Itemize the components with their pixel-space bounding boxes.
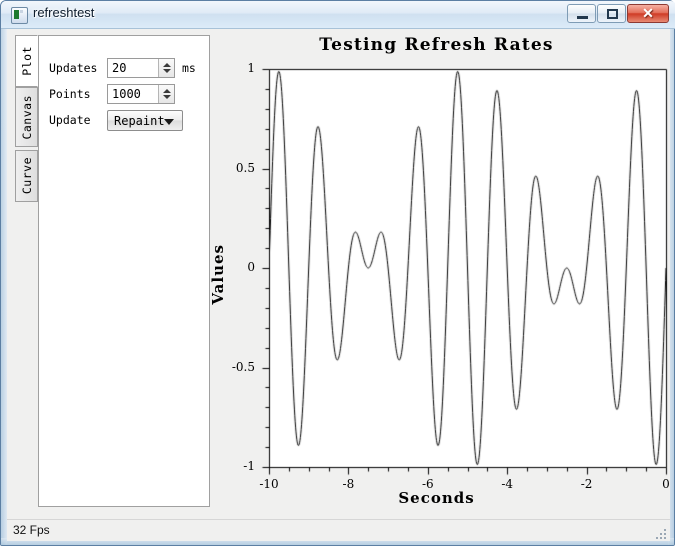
x-tick-label: -10 xyxy=(249,477,289,491)
y-tick-label: -1 xyxy=(215,459,255,473)
update-mode-label: Update xyxy=(49,113,91,127)
resize-grip[interactable] xyxy=(653,526,666,539)
maximize-button[interactable] xyxy=(597,4,626,23)
close-button[interactable]: ✕ xyxy=(627,4,669,23)
app-icon xyxy=(11,7,28,24)
y-tick-label: 0 xyxy=(215,260,255,274)
tab-curve[interactable]: Curve xyxy=(15,150,38,202)
updates-row: Updates 20 ms xyxy=(49,58,204,80)
updates-label: Updates xyxy=(49,61,97,75)
status-bar: 32 Fps xyxy=(7,519,670,541)
updates-unit: ms xyxy=(182,61,196,75)
y-tick-label: -0.5 xyxy=(215,360,255,374)
update-mode-value: Repaint xyxy=(114,114,165,128)
points-row: Points 1000 xyxy=(49,84,204,106)
x-tick-label: -4 xyxy=(487,477,527,491)
points-step-up-icon[interactable] xyxy=(163,89,171,93)
settings-panel: Updates 20 ms Points 1000 xyxy=(38,35,210,507)
chevron-down-icon[interactable] xyxy=(164,119,174,125)
minimize-button[interactable] xyxy=(567,4,596,23)
update-mode-select[interactable]: Repaint xyxy=(107,110,183,131)
tab-canvas[interactable]: Canvas xyxy=(15,87,38,147)
updates-step-down-icon[interactable] xyxy=(163,69,171,73)
tab-curve-label: Curve xyxy=(20,157,34,194)
x-tick-label: 0 xyxy=(646,477,675,491)
points-value: 1000 xyxy=(112,87,141,101)
x-tick-label: -2 xyxy=(567,477,607,491)
fps-status: 32 Fps xyxy=(13,523,50,537)
plot-canvas[interactable] xyxy=(203,29,670,520)
x-tick-label: -6 xyxy=(408,477,448,491)
tab-plot[interactable]: Plot xyxy=(15,35,38,87)
tab-plot-label: Plot xyxy=(20,46,34,76)
window-title: refreshtest xyxy=(33,5,94,20)
points-stepper[interactable] xyxy=(158,85,174,103)
minimize-icon xyxy=(577,16,588,19)
tab-canvas-label: Canvas xyxy=(20,95,34,140)
points-step-down-icon[interactable] xyxy=(163,95,171,99)
updates-step-up-icon[interactable] xyxy=(163,63,171,67)
close-icon: ✕ xyxy=(628,5,668,22)
client-area: Plot Canvas Curve Updates 20 ms xyxy=(7,29,670,519)
maximize-icon xyxy=(607,9,618,19)
updates-stepper[interactable] xyxy=(158,59,174,77)
y-tick-label: 1 xyxy=(215,61,255,75)
plot-area: Testing Refresh Rates Values Seconds -10… xyxy=(203,29,670,515)
title-bar[interactable]: refreshtest ✕ xyxy=(1,1,675,29)
x-tick-label: -8 xyxy=(328,477,368,491)
points-spinbox[interactable]: 1000 xyxy=(107,84,175,104)
updates-value: 20 xyxy=(112,61,126,75)
update-mode-row: Update Repaint xyxy=(49,110,204,132)
y-tick-label: 0.5 xyxy=(215,161,255,175)
updates-spinbox[interactable]: 20 xyxy=(107,58,175,78)
points-label: Points xyxy=(49,87,91,101)
application-window: refreshtest ✕ Plot Canvas Curve Updates xyxy=(0,0,675,546)
